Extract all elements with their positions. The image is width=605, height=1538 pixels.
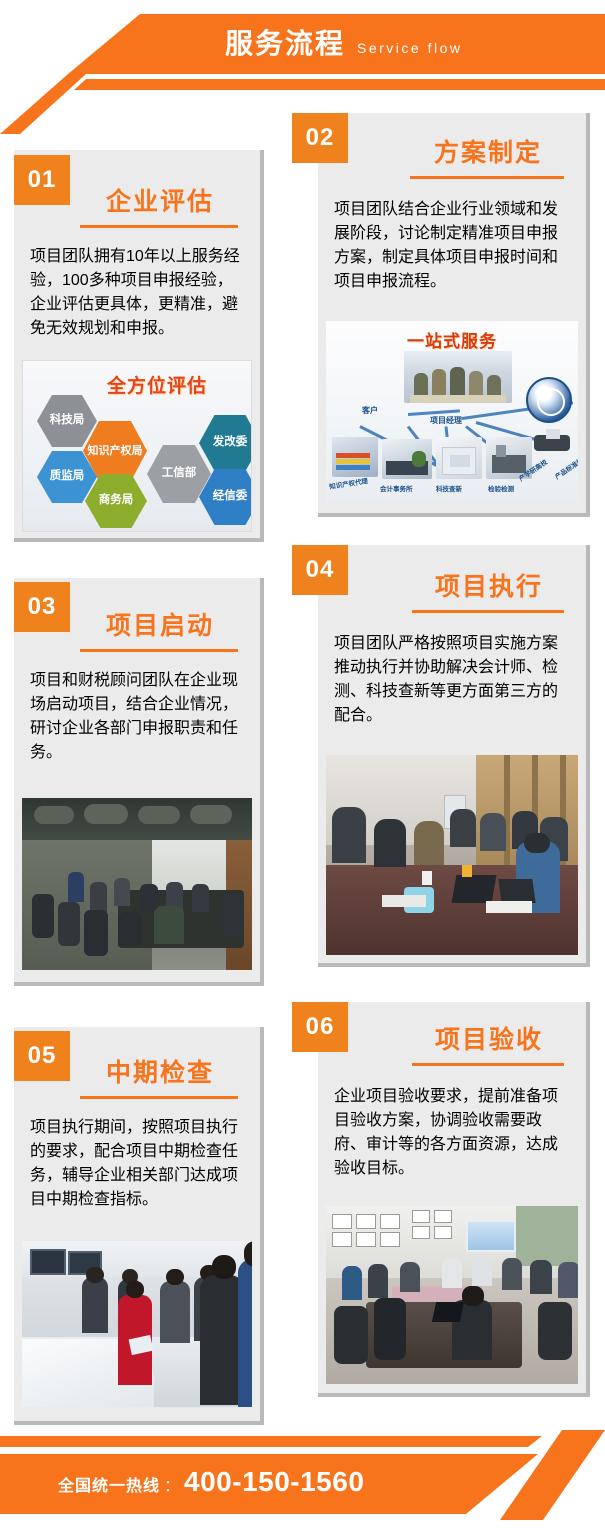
page-subtitle: Service flow — [357, 28, 462, 68]
header-orange-stripe — [0, 79, 605, 90]
photo-team-working-laptops — [326, 755, 578, 955]
footer-orange-stripe — [0, 1436, 605, 1447]
card-body-02: 项目团队结合企业行业领域和发展阶段，讨论制定精准项目申报方案，制定具体项目申报时… — [334, 195, 570, 291]
service-quality-seal-icon — [526, 377, 572, 423]
step-card-05: 中期检查 项目执行期间，按照项目执行的要求，配合项目中期检查任务，辅导企业相关部… — [14, 1027, 264, 1425]
hotline-label: 全国统一热线 — [58, 1472, 160, 1496]
hex-node-label: 科技局 — [50, 414, 85, 427]
step-badge-02: 02 — [292, 113, 348, 163]
photo-site-visit-tour — [22, 1241, 252, 1407]
step-number-03: 03 — [28, 593, 57, 621]
card-body-05: 项目执行期间，按照项目执行的要求，配合项目中期检查任务，辅导企业相关部门达成项目… — [30, 1113, 244, 1209]
hex-node-label: 经信委 — [213, 490, 248, 503]
step-card-06: 项目验收 企业项目验收要求，提前准备项目验收方案，协调验收需要政府、审计等的各方… — [318, 1002, 590, 1397]
step-badge-06: 06 — [292, 1002, 348, 1052]
service-label-research: 科技查新 — [436, 483, 462, 493]
hotline-number[interactable]: 400-150-1560 — [184, 1466, 364, 1498]
service-photo-accounting — [382, 439, 432, 479]
hex-node-keji: 科技局 — [37, 395, 97, 447]
card-title-06: 项目验收 — [318, 1020, 586, 1056]
step-card-04: 项目执行 项目团队严格按照项目实施方案推动执行并协助解决会计师、检测、科技查新等… — [318, 545, 590, 967]
one-stop-service-diagram: 一站式服务 客户 — [326, 321, 578, 503]
step-number-02: 02 — [306, 124, 335, 152]
service-label-manager: 项目经理 — [430, 415, 462, 426]
title-underline-06 — [412, 1063, 564, 1066]
card-title-04: 项目执行 — [318, 567, 586, 603]
page-header: 服务流程 Service flow — [0, 0, 605, 108]
step-card-02: 方案制定 项目团队结合企业行业领域和发展阶段，讨论制定精准项目申报方案，制定具体… — [318, 113, 590, 517]
hotline-group: 全国统一热线 ： 400-150-1560 — [58, 1466, 364, 1498]
service-photo-ip — [332, 437, 378, 477]
title-underline-03 — [80, 649, 238, 652]
title-underline-01 — [80, 225, 238, 228]
step-badge-05: 05 — [14, 1031, 70, 1081]
service-photo-meeting — [404, 351, 512, 403]
service-photo-research — [436, 437, 482, 479]
step-number-06: 06 — [306, 1013, 335, 1041]
hexagon-assessment-chart: 全方位评估 科技局 知识产权局 质监局 商务局 工信部 发改委 — [22, 360, 252, 532]
page-footer: 全国统一热线 ： 400-150-1560 — [0, 1430, 605, 1538]
step-badge-03: 03 — [14, 582, 70, 632]
step-card-01: 企业评估 项目团队拥有10年以上服务经验，100多种项目申报经验，企业评估更具体… — [14, 150, 264, 542]
hotline-colon: ： — [164, 1472, 180, 1496]
hex-node-fagai: 发改委 — [199, 415, 252, 471]
header-title-group: 服务流程 Service flow — [225, 24, 462, 68]
card-body-03: 项目和财税顾问团队在企业现场启动项目，结合企业情况，研讨企业各部门申报职责和任务… — [30, 666, 244, 762]
service-diagram-title: 一站式服务 — [326, 327, 578, 352]
service-photo-university — [532, 425, 572, 459]
step-badge-01: 01 — [14, 155, 70, 205]
card-body-06: 企业项目验收要求，提前准备项目验收方案，协调验收需要政府、审计等的各方面资源，达… — [334, 1082, 570, 1178]
photo-acceptance-meeting — [326, 1206, 578, 1384]
hex-node-label: 发改委 — [213, 436, 248, 449]
step-number-05: 05 — [28, 1042, 57, 1070]
hex-node-label: 工信部 — [162, 467, 197, 480]
card-body-01: 项目团队拥有10年以上服务经验，100多种项目申报经验，企业评估更具体，更精准，… — [30, 242, 244, 338]
hex-node-shangwu: 商务局 — [85, 474, 147, 528]
title-underline-04 — [412, 610, 564, 613]
card-title-02: 方案制定 — [318, 133, 586, 169]
hex-node-label: 质监局 — [50, 470, 85, 483]
hex-node-label: 商务局 — [99, 494, 134, 507]
step-number-04: 04 — [306, 556, 335, 584]
page-title: 服务流程 — [225, 24, 345, 64]
service-label-accounting: 会计事务所 — [380, 483, 413, 493]
hex-chart-title: 全方位评估 — [107, 371, 207, 398]
service-label-customer: 客户 — [362, 405, 378, 416]
hex-node-label: 知识产权局 — [88, 445, 143, 458]
service-label-ip: 知识产权代理 — [328, 475, 368, 491]
title-underline-05 — [80, 1096, 238, 1099]
infographic-page: 服务流程 Service flow 企业评估 项目团队拥有10年以上服务经验，1… — [0, 0, 605, 1538]
step-number-01: 01 — [28, 166, 57, 194]
step-badge-04: 04 — [292, 545, 348, 595]
service-label-inspection: 检验检测 — [488, 483, 514, 493]
step-card-03: 项目启动 项目和财税顾问团队在企业现场启动项目，结合企业情况，研讨企业各部门申报… — [14, 578, 264, 986]
card-body-04: 项目团队严格按照项目实施方案推动执行并协助解决会计师、检测、科技查新等更方面第三… — [334, 629, 570, 725]
title-underline-02 — [410, 176, 564, 179]
photo-conference-room-meeting — [22, 798, 252, 970]
